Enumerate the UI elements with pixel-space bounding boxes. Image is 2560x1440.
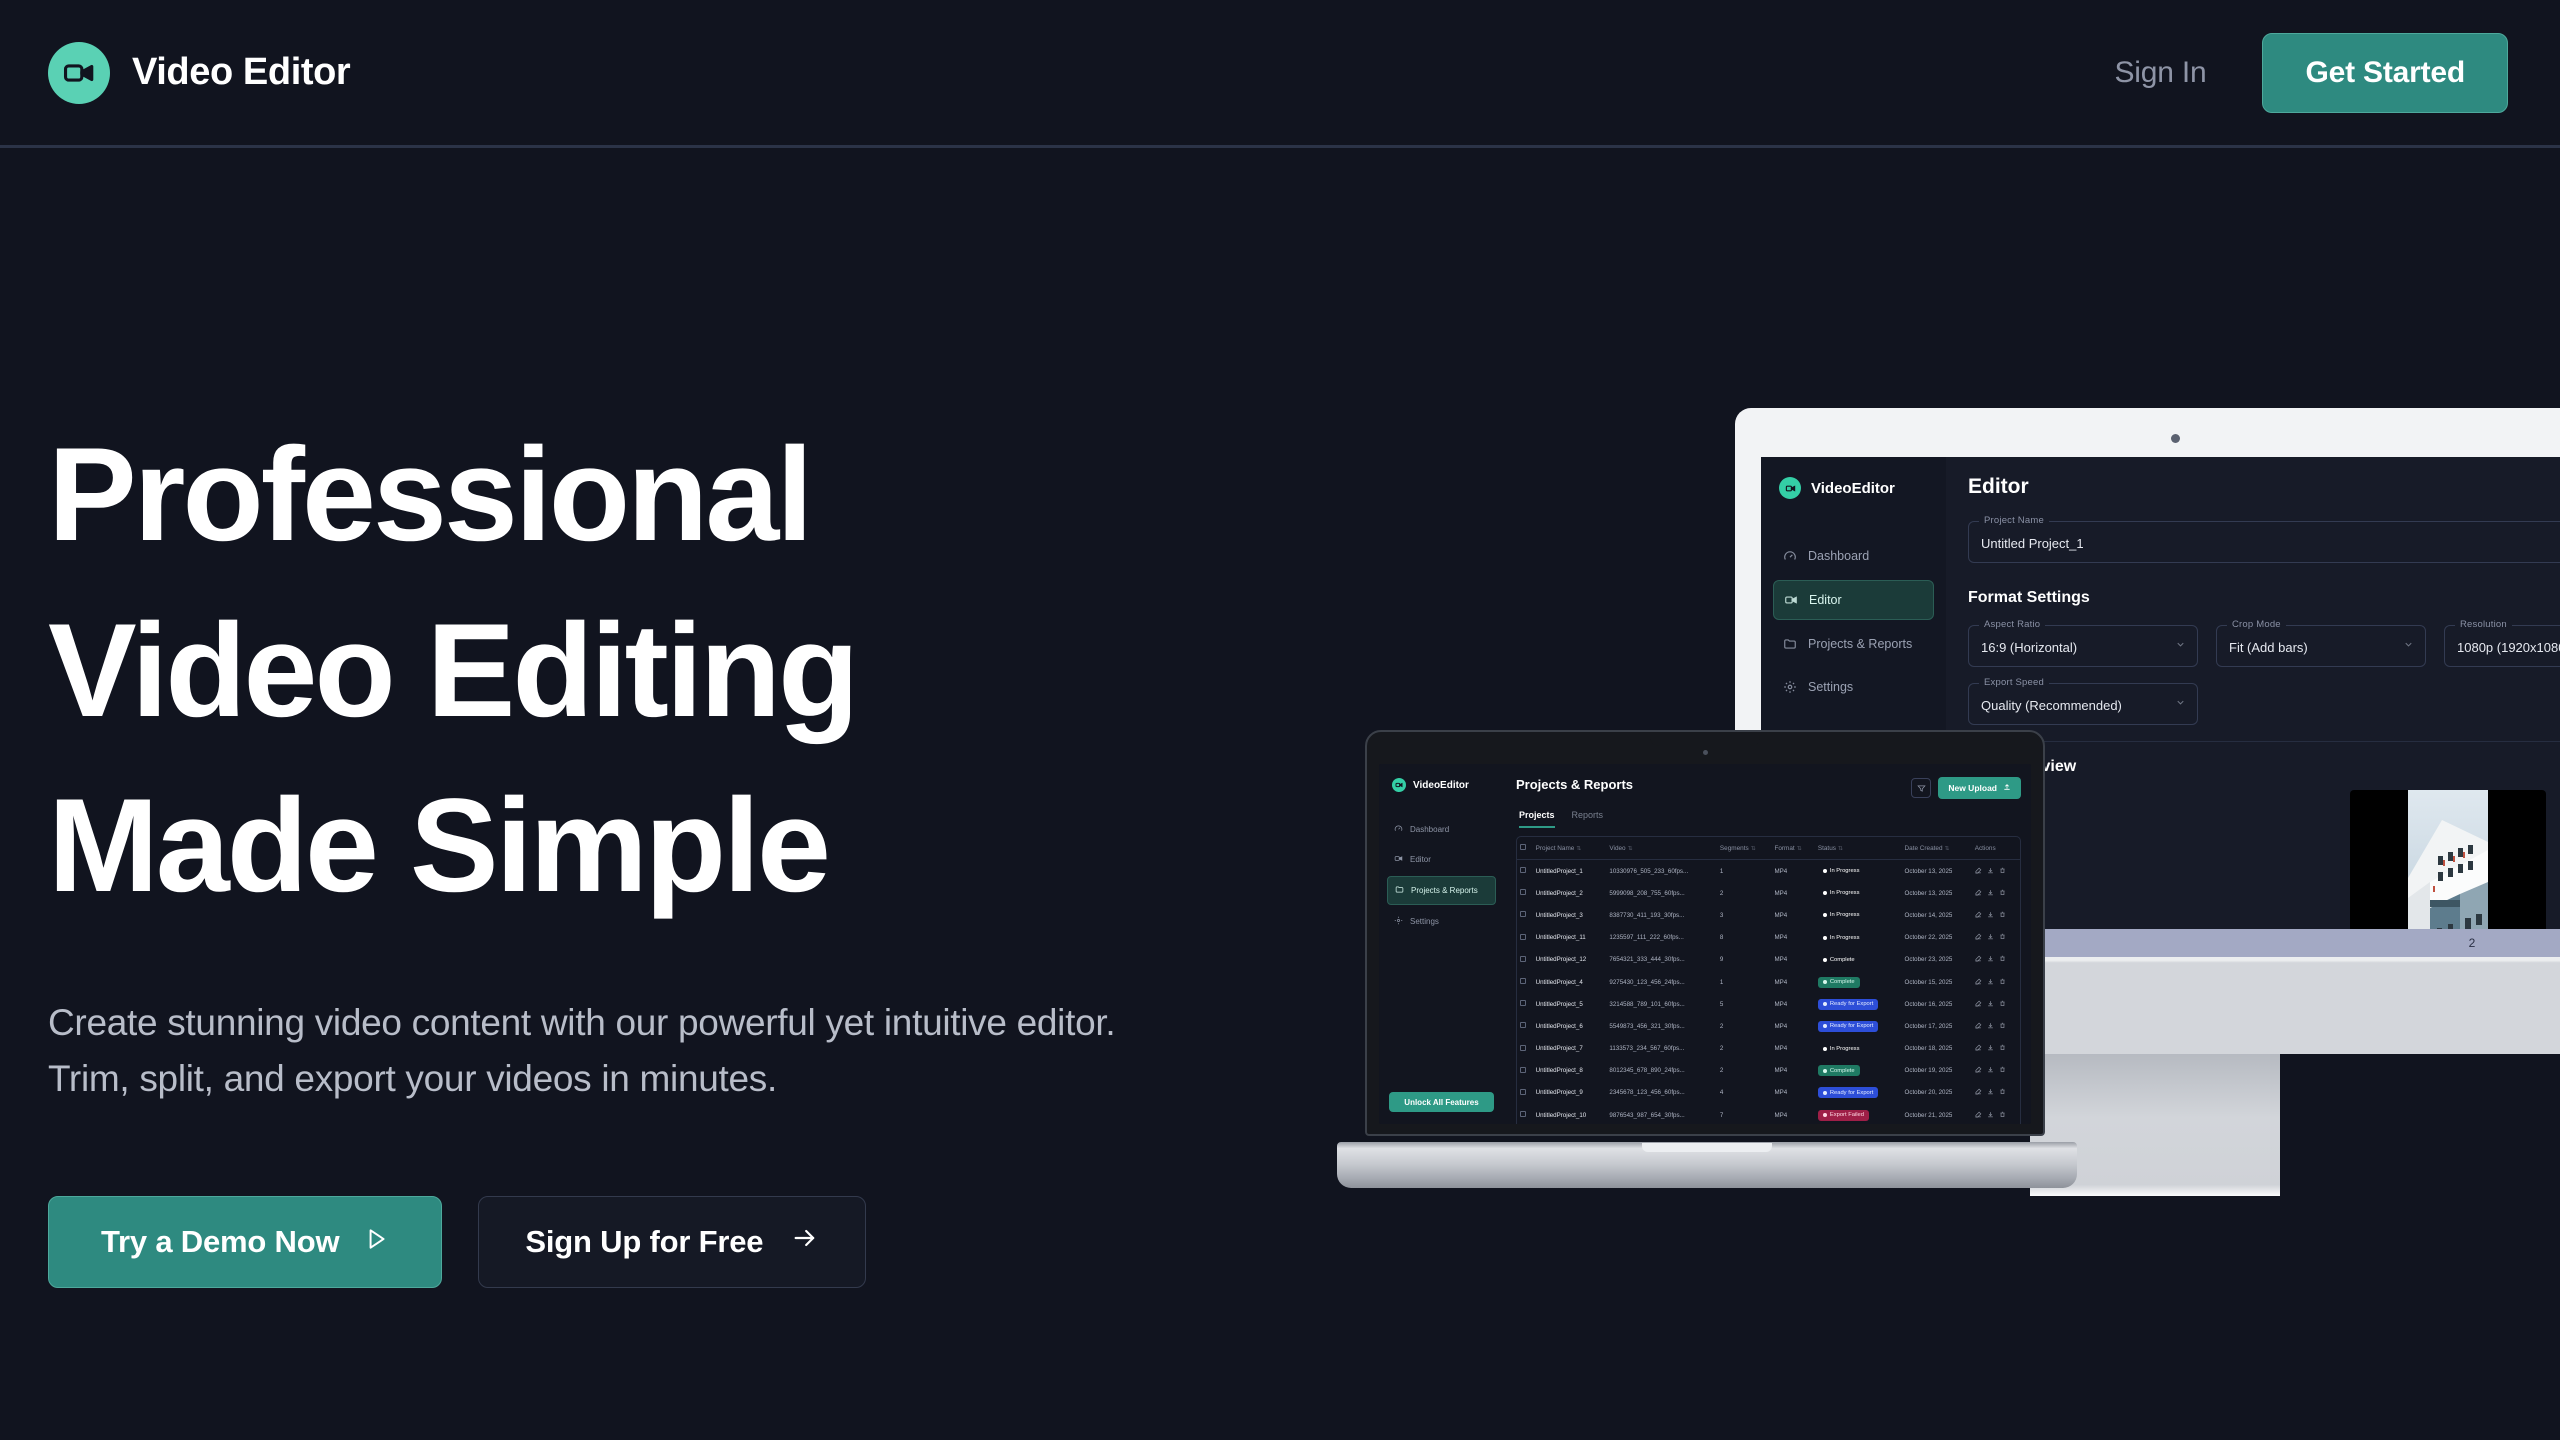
laptop-camera-icon	[1703, 750, 1708, 755]
delete-icon[interactable]	[1999, 867, 2006, 874]
row-select[interactable]	[1517, 993, 1533, 1015]
cell-project-name: UntitledProject_2	[1533, 882, 1607, 904]
status-label: Complete	[1830, 1068, 1855, 1074]
table-row[interactable]: UntitledProject_71133573_234_567_60fps..…	[1517, 1038, 2020, 1060]
cell-format: MP4	[1771, 1038, 1814, 1060]
cell-segments: 7	[1717, 1104, 1772, 1124]
brand[interactable]: Video Editor	[48, 42, 350, 104]
cell-segments: 4	[1717, 1082, 1772, 1104]
sidebar-item-dashboard[interactable]: Dashboard	[1773, 537, 1934, 575]
aspect-ratio-label: Aspect Ratio	[1979, 619, 2045, 630]
export-speed-value: Quality (Recommended)	[1981, 698, 2122, 713]
status-dot-icon	[1823, 1002, 1827, 1006]
cell-date-created: October 13, 2025	[1902, 882, 1972, 904]
cell-video: 5999098_208_755_60fps...	[1606, 882, 1717, 904]
status-label: Ready for Export	[1830, 1090, 1874, 1096]
cell-segments: 2	[1717, 1060, 1772, 1082]
row-select[interactable]	[1517, 904, 1533, 926]
cell-project-name: UntitledProject_8	[1533, 1060, 1607, 1082]
table-row[interactable]: UntitledProject_25999098_208_755_60fps..…	[1517, 882, 2020, 904]
brand-name: Video Editor	[132, 51, 350, 94]
cell-video: 7654321_333_444_30fps...	[1606, 949, 1717, 971]
status-dot-icon	[1823, 936, 1827, 940]
cell-actions	[1972, 949, 2020, 971]
sort-icon: ⇅	[1751, 845, 1756, 852]
edit-icon[interactable]	[1975, 1000, 1982, 1007]
delete-icon[interactable]	[1999, 1111, 2006, 1118]
resolution-select[interactable]: Resolution 1080p (1920x1080)	[2444, 625, 2560, 667]
delete-icon[interactable]	[1999, 911, 2006, 918]
header-nav: Sign In Get Started	[2114, 33, 2508, 113]
row-select[interactable]	[1517, 882, 1533, 904]
col-label: Actions	[1975, 845, 1996, 852]
status-dot-icon	[1823, 1113, 1827, 1117]
format-settings-row-2: Export Speed Quality (Recommended)	[1968, 683, 2560, 725]
status-dot-icon	[1823, 980, 1827, 984]
projects-sidebar: VideoEditor Dashboard Editor	[1379, 764, 1504, 1124]
sidebar-label: Projects & Reports	[1808, 637, 1912, 651]
status-dot-icon	[1823, 958, 1827, 962]
status-dot-icon	[1823, 1047, 1827, 1051]
status-badge: In Progress	[1818, 910, 1865, 921]
cell-segments: 1	[1717, 860, 1772, 883]
projects-table-wrapper: Project Name⇅ Video⇅ Segments⇅ Format⇅ S…	[1516, 836, 2021, 1124]
cell-video: 8012345_678_890_24fps...	[1606, 1060, 1717, 1082]
col-format[interactable]: Format⇅	[1771, 837, 1814, 860]
status-dot-icon	[1823, 1091, 1827, 1095]
delete-icon[interactable]	[1999, 1044, 2006, 1051]
status-label: Complete	[1830, 979, 1855, 985]
projects-brand-name: VideoEditor	[1413, 780, 1469, 791]
row-checkbox[interactable]	[1520, 1022, 1526, 1028]
cell-actions	[1972, 971, 2020, 993]
table-header-row: Project Name⇅ Video⇅ Segments⇅ Format⇅ S…	[1517, 837, 2020, 860]
status-label: Complete	[1830, 957, 1855, 963]
col-video[interactable]: Video⇅	[1606, 837, 1717, 860]
chevron-down-icon	[2403, 637, 2414, 655]
col-label: Format	[1774, 845, 1794, 852]
edit-icon[interactable]	[1975, 1022, 1982, 1029]
table-row[interactable]: UntitledProject_49275430_123_456_24fps..…	[1517, 971, 2020, 993]
delete-icon[interactable]	[1999, 889, 2006, 896]
cell-date-created: October 21, 2025	[1902, 1104, 1972, 1124]
table-row[interactable]: UntitledProject_92345678_123_456_60fps..…	[1517, 1082, 2020, 1104]
row-checkbox[interactable]	[1520, 934, 1526, 940]
projects-header-actions: New Upload	[1911, 777, 2021, 799]
table-row[interactable]: UntitledProject_38387730_411_193_30fps..…	[1517, 904, 2020, 926]
status-dot-icon	[1823, 1024, 1827, 1028]
hero-section: Professional Video Editing Made Simple C…	[0, 148, 1200, 1288]
edit-icon[interactable]	[1975, 911, 1982, 918]
sort-icon: ⇅	[1945, 845, 1950, 852]
sidebar-item-editor[interactable]: Editor	[1773, 580, 1934, 620]
chevron-down-icon	[2175, 695, 2186, 713]
status-label: Export Failed	[1830, 1112, 1864, 1118]
cell-segments: 9	[1717, 949, 1772, 971]
cell-project-name: UntitledProject_7	[1533, 1038, 1607, 1060]
sidebar-label: Settings	[1808, 680, 1853, 694]
sign-up-free-button[interactable]: Sign Up for Free	[478, 1196, 866, 1288]
monitor-camera-icon	[2171, 434, 2180, 443]
page-title: Professional Video Editing Made Simple	[48, 408, 1200, 935]
cell-project-name: UntitledProject_3	[1533, 904, 1607, 926]
status-label: In Progress	[1830, 935, 1860, 941]
projects-nav: Dashboard Editor Projects & Reports	[1379, 816, 1504, 935]
cell-project-name: UntitledProject_12	[1533, 949, 1607, 971]
project-name-value: Untitled Project_1	[1981, 536, 2084, 551]
aspect-ratio-select[interactable]: Aspect Ratio 16:9 (Horizontal)	[1968, 625, 2198, 667]
sidebar-item-dashboard[interactable]: Dashboard	[1387, 816, 1496, 843]
table-row[interactable]: UntitledProject_65549873_456_321_30fps..…	[1517, 1015, 2020, 1037]
cell-project-name: UntitledProject_4	[1533, 971, 1607, 993]
tab-reports[interactable]: Reports	[1572, 810, 1604, 828]
cell-date-created: October 17, 2025	[1902, 1015, 1972, 1037]
status-badge: Complete	[1818, 954, 1860, 965]
row-checkbox[interactable]	[1520, 867, 1526, 873]
upload-icon	[2003, 783, 2011, 793]
col-date-created[interactable]: Date Created⇅	[1902, 837, 1972, 860]
col-label: Project Name	[1536, 845, 1575, 852]
cell-project-name: UntitledProject_10	[1533, 1104, 1607, 1124]
row-checkbox[interactable]	[1520, 1089, 1526, 1095]
status-label: In Progress	[1830, 890, 1860, 896]
row-select[interactable]	[1517, 927, 1533, 949]
laptop-mockup: VideoEditor Dashboard Editor	[1365, 730, 2045, 1136]
table-row[interactable]: UntitledProject_88012345_678_890_24fps..…	[1517, 1060, 2020, 1082]
cell-format: MP4	[1771, 1082, 1814, 1104]
video-camera-icon	[1779, 477, 1801, 499]
cell-video: 10330976_505_233_60fps...	[1606, 860, 1717, 883]
table-row[interactable]: UntitledProject_109876543_987_654_30fps.…	[1517, 1104, 2020, 1124]
sort-icon: ⇅	[1628, 845, 1633, 852]
editor-brand: VideoEditor	[1761, 477, 1946, 499]
download-icon[interactable]	[1987, 911, 1994, 918]
status-badge: Export Failed	[1818, 1110, 1869, 1121]
col-label: Date Created	[1905, 845, 1943, 852]
download-icon[interactable]	[1987, 955, 1994, 962]
projects-table: Project Name⇅ Video⇅ Segments⇅ Format⇅ S…	[1517, 837, 2020, 1124]
sidebar-label: Dashboard	[1410, 825, 1449, 834]
row-checkbox[interactable]	[1520, 1045, 1526, 1051]
cell-actions	[1972, 904, 2020, 926]
project-name-label: Project Name	[1979, 515, 2049, 526]
cell-actions	[1972, 1038, 2020, 1060]
cell-status: In Progress	[1815, 927, 1902, 949]
delete-icon[interactable]	[1999, 1022, 2006, 1029]
cell-segments: 2	[1717, 1015, 1772, 1037]
cell-format: MP4	[1771, 1104, 1814, 1124]
status-badge: Complete	[1818, 1065, 1860, 1076]
cell-status: Ready for Export	[1815, 993, 1902, 1015]
status-label: Ready for Export	[1830, 1001, 1874, 1007]
status-badge: In Progress	[1818, 888, 1865, 899]
row-select[interactable]	[1517, 1060, 1533, 1082]
site-header: Video Editor Sign In Get Started	[0, 0, 2560, 148]
cell-video: 8387730_411_193_30fps...	[1606, 904, 1717, 926]
delete-icon[interactable]	[1999, 1088, 2006, 1095]
laptop-lid: VideoEditor Dashboard Editor	[1365, 730, 2045, 1136]
row-select[interactable]	[1517, 1082, 1533, 1104]
status-label: Ready for Export	[1830, 1023, 1874, 1029]
cell-status: Ready for Export	[1815, 1082, 1902, 1104]
cell-format: MP4	[1771, 860, 1814, 883]
cell-status: In Progress	[1815, 904, 1902, 926]
laptop-base	[1337, 1142, 2077, 1188]
sidebar-item-projects-reports[interactable]: Projects & Reports	[1387, 876, 1496, 905]
cell-video: 3214588_789_101_60fps...	[1606, 993, 1717, 1015]
editor-nav: Dashboard Editor Projects & Reports	[1761, 537, 1946, 706]
row-select[interactable]	[1517, 1038, 1533, 1060]
cell-status: In Progress	[1815, 860, 1902, 883]
sidebar-item-settings[interactable]: Settings	[1773, 668, 1934, 706]
editor-brand-name: VideoEditor	[1811, 480, 1895, 497]
headline-line-3: Made Simple	[48, 759, 1200, 935]
cell-actions	[1972, 1104, 2020, 1124]
delete-icon[interactable]	[1999, 933, 2006, 940]
sign-up-free-label: Sign Up for Free	[525, 1224, 763, 1260]
sidebar-item-editor[interactable]: Editor	[1387, 846, 1496, 873]
delete-icon[interactable]	[1999, 955, 2006, 962]
cell-actions	[1972, 993, 2020, 1015]
crop-mode-label: Crop Mode	[2227, 619, 2286, 630]
editor-page-title: Editor	[1968, 475, 2560, 499]
sidebar-item-settings[interactable]: Settings	[1387, 908, 1496, 935]
cell-status: Ready for Export	[1815, 1015, 1902, 1037]
edit-icon[interactable]	[1975, 978, 1982, 985]
cell-project-name: UntitledProject_1	[1533, 860, 1607, 883]
sidebar-label: Editor	[1809, 593, 1842, 607]
sidebar-label: Dashboard	[1808, 549, 1869, 563]
cell-date-created: October 14, 2025	[1902, 904, 1972, 926]
new-upload-label: New Upload	[1948, 783, 1997, 793]
sort-icon: ⇅	[1797, 845, 1802, 852]
cell-actions	[1972, 860, 2020, 883]
col-select[interactable]	[1517, 837, 1533, 860]
cell-video: 9876543_987_654_30fps...	[1606, 1104, 1717, 1124]
headline-line-1: Professional	[48, 408, 1200, 584]
cell-project-name: UntitledProject_5	[1533, 993, 1607, 1015]
cell-segments: 1	[1717, 971, 1772, 993]
status-label: In Progress	[1830, 912, 1860, 918]
cell-actions	[1972, 1082, 2020, 1104]
row-checkbox[interactable]	[1520, 1000, 1526, 1006]
status-badge: Complete	[1818, 977, 1860, 988]
status-badge: Ready for Export	[1818, 999, 1879, 1010]
cell-format: MP4	[1771, 971, 1814, 993]
hero-subtitle: Create stunning video content with our p…	[48, 995, 1138, 1108]
download-icon[interactable]	[1987, 867, 1994, 874]
edit-icon[interactable]	[1975, 1111, 1982, 1118]
sign-in-link[interactable]: Sign In	[2114, 56, 2206, 90]
row-select[interactable]	[1517, 860, 1533, 883]
download-icon[interactable]	[1987, 1000, 1994, 1007]
status-dot-icon	[1823, 1069, 1827, 1073]
try-demo-button[interactable]: Try a Demo Now	[48, 1196, 442, 1288]
cell-date-created: October 13, 2025	[1902, 860, 1972, 883]
row-checkbox[interactable]	[1520, 911, 1526, 917]
chevron-down-icon	[2175, 637, 2186, 655]
delete-icon[interactable]	[1999, 978, 2006, 985]
try-demo-label: Try a Demo Now	[101, 1224, 339, 1260]
cell-format: MP4	[1771, 1015, 1814, 1037]
format-settings-heading: Format Settings	[1968, 589, 2560, 607]
row-select[interactable]	[1517, 1015, 1533, 1037]
col-project-name[interactable]: Project Name⇅	[1533, 837, 1607, 860]
cell-format: MP4	[1771, 1060, 1814, 1082]
cell-project-name: UntitledProject_6	[1533, 1015, 1607, 1037]
col-segments[interactable]: Segments⇅	[1717, 837, 1772, 860]
delete-icon[interactable]	[1999, 1066, 2006, 1073]
unlock-all-features-button[interactable]: Unlock All Features	[1389, 1092, 1494, 1112]
video-camera-icon	[1784, 593, 1798, 607]
col-label: Segments	[1720, 845, 1749, 852]
aspect-ratio-value: 16:9 (Horizontal)	[1981, 640, 2077, 655]
edit-icon[interactable]	[1975, 1088, 1982, 1095]
cell-status: In Progress	[1815, 882, 1902, 904]
col-actions: Actions	[1972, 837, 2020, 860]
table-row[interactable]: UntitledProject_110330976_505_233_60fps.…	[1517, 860, 2020, 883]
cell-segments: 2	[1717, 1038, 1772, 1060]
cell-date-created: October 16, 2025	[1902, 993, 1972, 1015]
project-name-field[interactable]: Project Name Untitled Project_1	[1968, 521, 2560, 563]
edit-icon[interactable]	[1975, 1066, 1982, 1073]
row-checkbox[interactable]	[1520, 1111, 1526, 1117]
cell-status: Export Failed	[1815, 1104, 1902, 1124]
row-checkbox[interactable]	[1520, 956, 1526, 962]
row-select[interactable]	[1517, 949, 1533, 971]
row-select[interactable]	[1517, 1104, 1533, 1124]
col-label: Video	[1609, 845, 1625, 852]
cell-segments: 3	[1717, 904, 1772, 926]
projects-tabs: Projects Reports	[1519, 810, 2021, 828]
cell-status: Complete	[1815, 1060, 1902, 1082]
laptop-notch	[1650, 732, 1760, 746]
projects-header: Projects & Reports New Upload	[1516, 777, 2021, 799]
gear-icon	[1783, 680, 1797, 694]
crop-mode-value: Fit (Add bars)	[2229, 640, 2308, 655]
edit-icon[interactable]	[1975, 889, 1982, 896]
download-icon[interactable]	[1987, 1044, 1994, 1051]
select-all-checkbox[interactable]	[1520, 844, 1526, 850]
status-label: In Progress	[1830, 868, 1860, 874]
cell-video: 2345678_123_456_60fps...	[1606, 1082, 1717, 1104]
projects-main: Projects & Reports New Upload	[1504, 764, 2031, 1124]
download-icon[interactable]	[1987, 1066, 1994, 1073]
status-badge: Ready for Export	[1818, 1087, 1879, 1098]
cell-segments: 5	[1717, 993, 1772, 1015]
crop-mode-select[interactable]: Crop Mode Fit (Add bars)	[2216, 625, 2426, 667]
status-dot-icon	[1823, 891, 1827, 895]
status-label: In Progress	[1830, 1046, 1860, 1052]
sort-icon: ⇅	[1576, 845, 1581, 852]
table-row[interactable]: UntitledProject_127654321_333_444_30fps.…	[1517, 949, 2020, 971]
cell-format: MP4	[1771, 882, 1814, 904]
projects-brand: VideoEditor	[1379, 778, 1504, 792]
table-row[interactable]: UntitledProject_53214588_789_101_60fps..…	[1517, 993, 2020, 1015]
status-badge: In Progress	[1818, 866, 1865, 877]
cell-date-created: October 23, 2025	[1902, 949, 1972, 971]
sidebar-label: Settings	[1410, 917, 1439, 926]
col-status[interactable]: Status⇅	[1815, 837, 1902, 860]
download-icon[interactable]	[1987, 933, 1994, 940]
download-icon[interactable]	[1987, 1022, 1994, 1029]
cell-video: 9275430_123_456_24fps...	[1606, 971, 1717, 993]
play-triangle-icon	[363, 1224, 389, 1260]
edit-icon[interactable]	[1975, 955, 1982, 962]
sidebar-label: Editor	[1410, 855, 1431, 864]
delete-icon[interactable]	[1999, 1000, 2006, 1007]
row-checkbox[interactable]	[1520, 978, 1526, 984]
download-icon[interactable]	[1987, 1088, 1994, 1095]
cell-project-name: UntitledProject_11	[1533, 927, 1607, 949]
cell-date-created: October 19, 2025	[1902, 1060, 1972, 1082]
edit-icon[interactable]	[1975, 933, 1982, 940]
video-camera-icon	[1392, 778, 1406, 792]
status-badge: In Progress	[1818, 1043, 1865, 1054]
video-camera-icon	[1394, 854, 1403, 865]
laptop-base-notch	[1642, 1143, 1772, 1152]
gauge-icon	[1394, 824, 1403, 835]
sidebar-label: Projects & Reports	[1411, 886, 1478, 895]
download-icon[interactable]	[1987, 1111, 1994, 1118]
cell-segments: 2	[1717, 882, 1772, 904]
col-label: Status	[1818, 845, 1836, 852]
folder-icon	[1395, 885, 1404, 896]
status-badge: In Progress	[1818, 932, 1865, 943]
download-icon[interactable]	[1987, 978, 1994, 985]
video-preview-header: Video Preview Video player size	[1968, 758, 2560, 776]
status-badge: Ready for Export	[1818, 1021, 1879, 1032]
format-settings-row-1: Aspect Ratio 16:9 (Horizontal) Crop Mode…	[1968, 625, 2560, 667]
cell-date-created: October 18, 2025	[1902, 1038, 1972, 1060]
status-dot-icon	[1823, 869, 1827, 873]
funnel-icon[interactable]	[1911, 778, 1931, 798]
video-camera-icon	[48, 42, 110, 104]
cell-actions	[1972, 882, 2020, 904]
sidebar-item-projects-reports[interactable]: Projects & Reports	[1773, 625, 1934, 663]
cell-status: Complete	[1815, 971, 1902, 993]
gear-icon	[1394, 916, 1403, 927]
tab-projects[interactable]: Projects	[1519, 810, 1555, 828]
projects-table-body: UntitledProject_110330976_505_233_60fps.…	[1517, 860, 2020, 1125]
table-row[interactable]: UntitledProject_111235597_111_222_60fps.…	[1517, 927, 2020, 949]
edit-icon[interactable]	[1975, 867, 1982, 874]
export-speed-select[interactable]: Export Speed Quality (Recommended)	[1968, 683, 2198, 725]
row-checkbox[interactable]	[1520, 1067, 1526, 1073]
arrow-right-icon	[791, 1224, 819, 1260]
sort-icon: ⇅	[1838, 845, 1843, 852]
cell-video: 5549873_456_321_30fps...	[1606, 1015, 1717, 1037]
laptop-screen: VideoEditor Dashboard Editor	[1379, 764, 2031, 1124]
projects-table-head: Project Name⇅ Video⇅ Segments⇅ Format⇅ S…	[1517, 837, 2020, 860]
edit-icon[interactable]	[1975, 1044, 1982, 1051]
cell-format: MP4	[1771, 949, 1814, 971]
gauge-icon	[1783, 549, 1797, 563]
resolution-value: 1080p (1920x1080)	[2457, 640, 2560, 655]
row-select[interactable]	[1517, 971, 1533, 993]
resolution-label: Resolution	[2455, 619, 2512, 630]
new-upload-button[interactable]: New Upload	[1938, 777, 2021, 799]
cell-actions	[1972, 927, 2020, 949]
cell-date-created: October 22, 2025	[1902, 927, 1972, 949]
download-icon[interactable]	[1987, 889, 1994, 896]
cell-actions	[1972, 1060, 2020, 1082]
section-divider	[1968, 741, 2560, 742]
row-checkbox[interactable]	[1520, 889, 1526, 895]
headline-line-2: Video Editing	[48, 584, 1200, 760]
get-started-button[interactable]: Get Started	[2262, 33, 2508, 113]
cell-video: 1235597_111_222_60fps...	[1606, 927, 1717, 949]
